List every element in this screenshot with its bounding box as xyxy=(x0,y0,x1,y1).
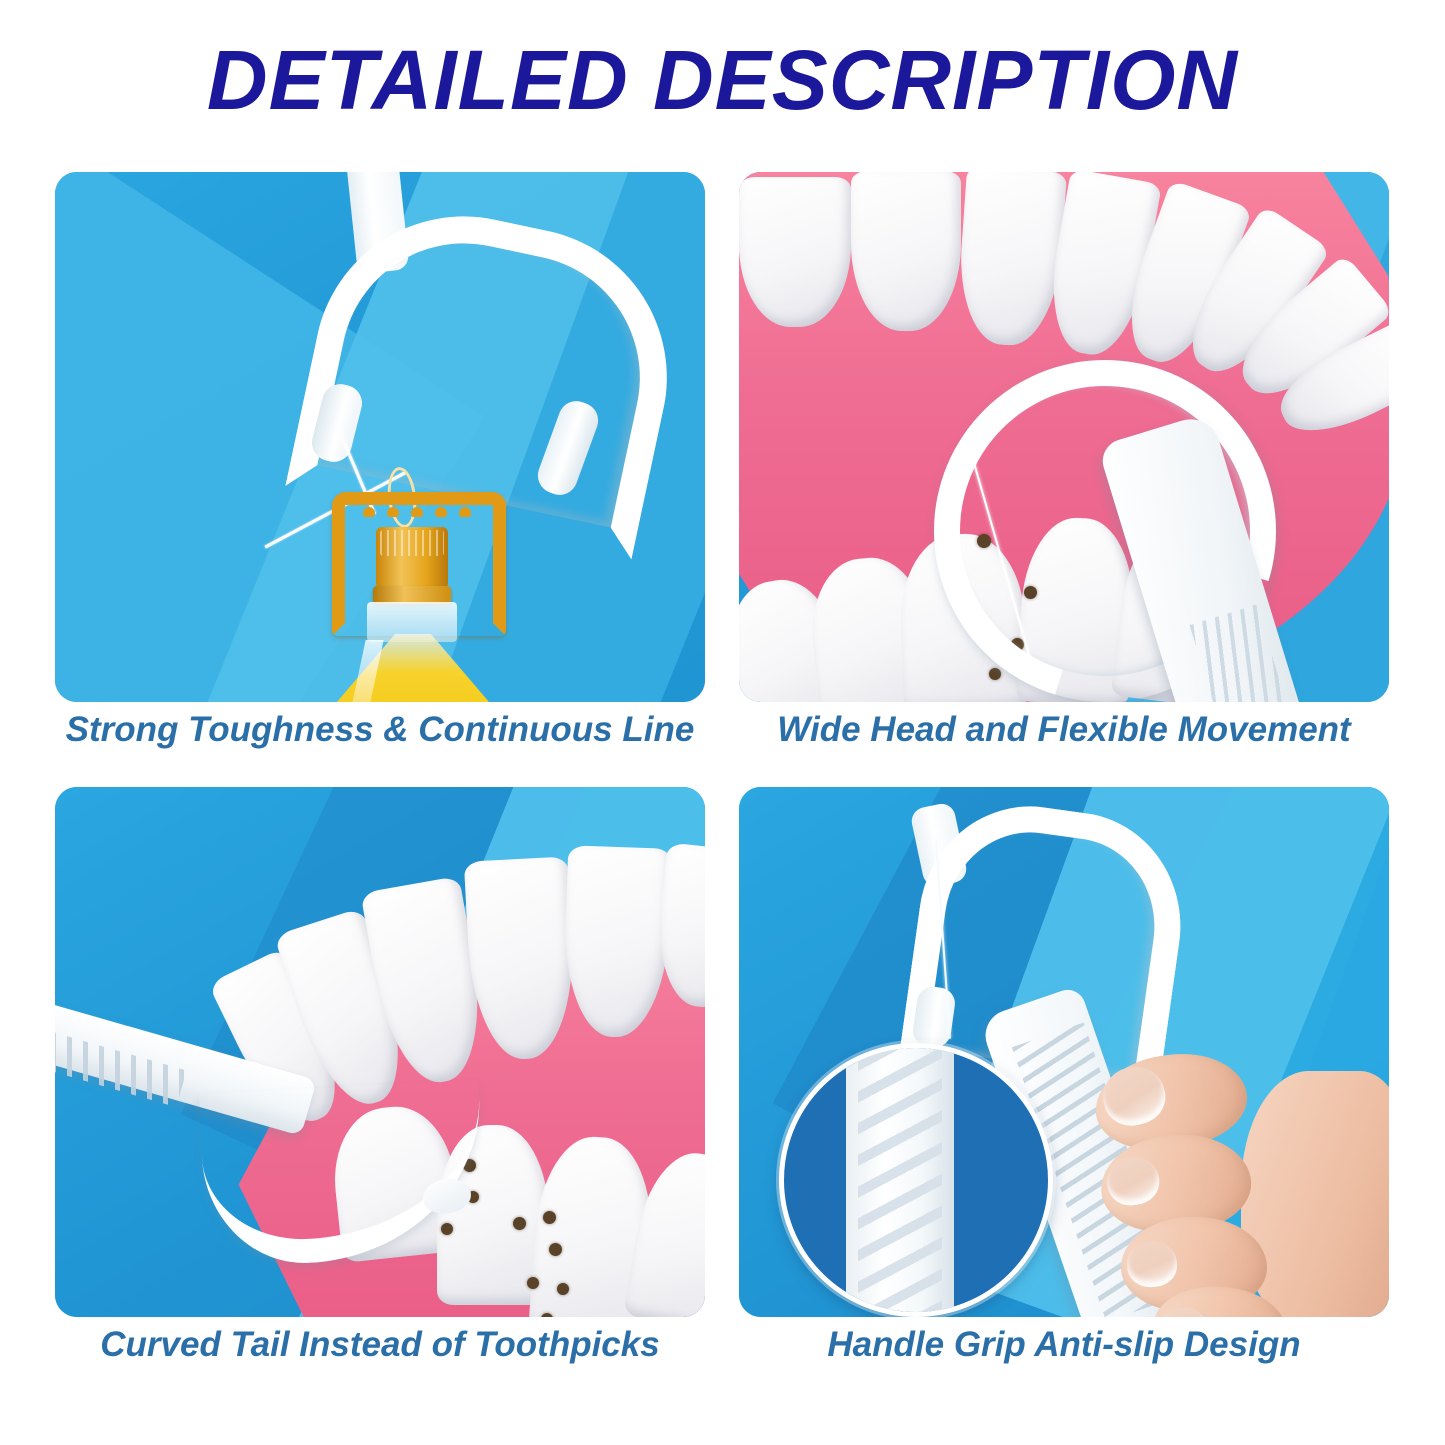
debris-spot xyxy=(543,1211,556,1224)
debris-spot xyxy=(527,1277,539,1289)
feature-card-curved-tail: Curved Tail Instead of Toothpicks xyxy=(55,787,705,1382)
magnified-grip-ribs xyxy=(858,1043,942,1317)
panel-image-handle-grip xyxy=(739,787,1389,1317)
page-title: DETAILED DESCRIPTION xyxy=(0,32,1445,129)
tooth xyxy=(562,845,673,1039)
oil-bottle-cap-ribs xyxy=(380,530,444,556)
feature-card-wide-head: Wide Head and Flexible Movement xyxy=(739,172,1389,767)
panel-caption-curved-tail: Curved Tail Instead of Toothpicks xyxy=(55,1325,705,1365)
panel-image-curved-tail xyxy=(55,787,705,1317)
debris-spot xyxy=(989,668,1001,680)
debris-spot xyxy=(549,1243,562,1256)
debris-spot xyxy=(513,1217,526,1230)
tooth xyxy=(955,172,1067,348)
debris-spot xyxy=(441,1223,453,1235)
feature-card-strong-toughness: Strong Toughness & Continuous Line xyxy=(55,172,705,767)
tooth xyxy=(739,177,851,327)
grip-magnifier-callout xyxy=(779,1043,1053,1317)
panel-caption-strong-toughness: Strong Toughness & Continuous Line xyxy=(55,710,705,750)
feature-panel-grid: Strong Toughness & Continuous Line xyxy=(55,172,1389,1387)
panel-caption-wide-head: Wide Head and Flexible Movement xyxy=(739,710,1389,750)
panel-image-strong-toughness xyxy=(55,172,705,702)
debris-spot xyxy=(557,1283,569,1295)
tooth xyxy=(464,856,578,1061)
panel-caption-handle-grip: Handle Grip Anti-slip Design xyxy=(739,1325,1389,1365)
panel-image-wide-head xyxy=(739,172,1389,702)
tooth xyxy=(851,172,961,331)
hand-holding-pick xyxy=(1091,1049,1389,1317)
feature-card-handle-grip: Handle Grip Anti-slip Design xyxy=(739,787,1389,1382)
